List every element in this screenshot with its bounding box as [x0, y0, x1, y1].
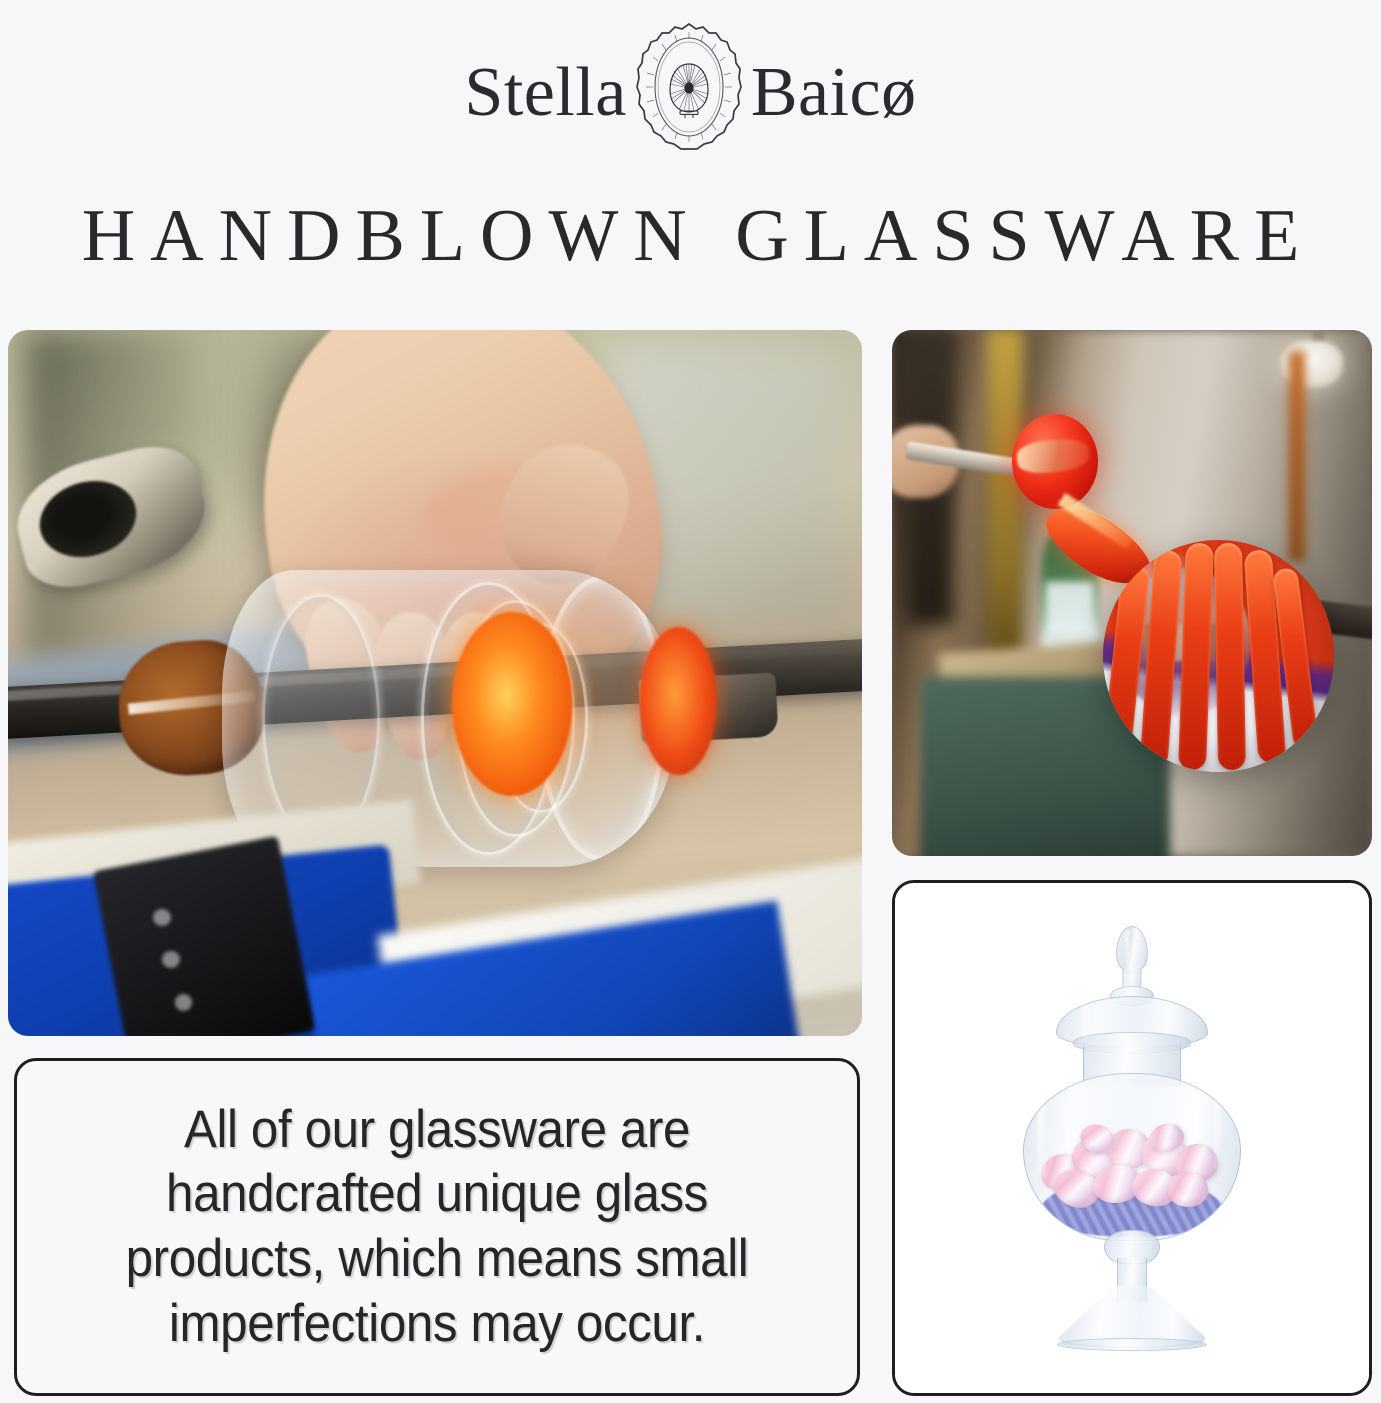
content-grid: All of our glassware are handcrafted uni…	[0, 0, 1381, 1403]
product-artwork	[895, 883, 1369, 1393]
molten-red-glass-coiling-photo	[892, 330, 1372, 856]
disclaimer-card: All of our glassware are handcrafted uni…	[14, 1058, 860, 1396]
glassblower-shaping-clear-glass-photo	[8, 330, 862, 1036]
photo-artwork	[892, 330, 1372, 856]
apothecary-jar-illustration	[1007, 918, 1257, 1358]
apothecary-jar-product-photo	[892, 880, 1372, 1396]
photo-artwork	[8, 330, 862, 1036]
disclaimer-text: All of our glassware are handcrafted uni…	[78, 1098, 796, 1357]
infographic-page: Stella	[0, 0, 1381, 1403]
